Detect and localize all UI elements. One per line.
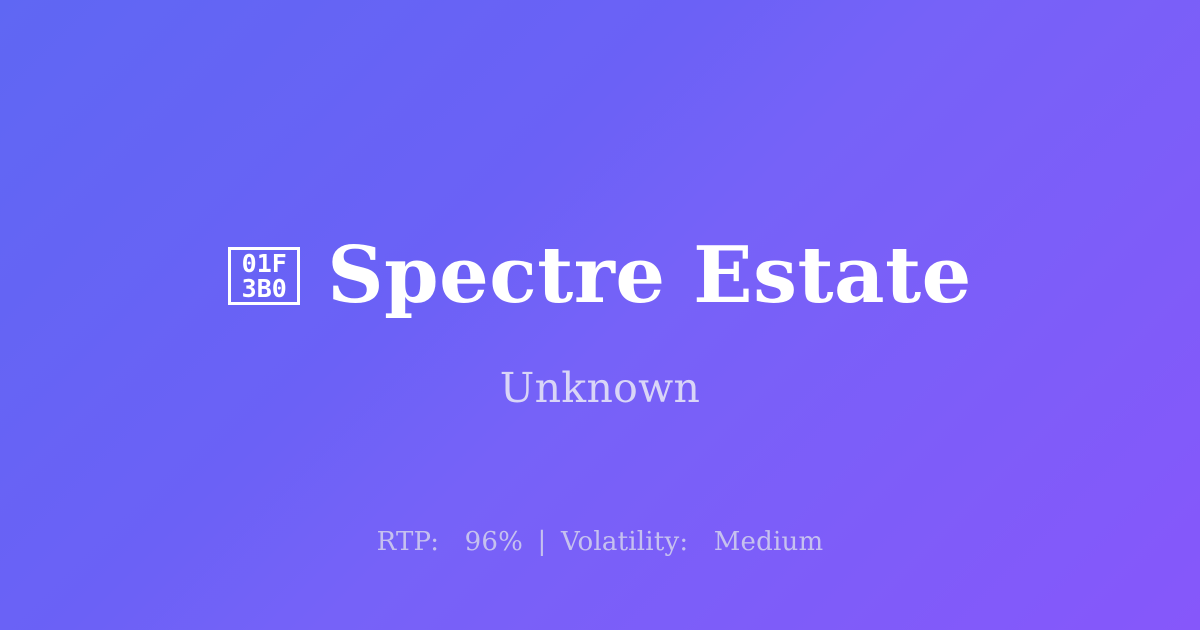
social-share-card: 01F 3B0 Spectre Estate Unknown RTP: 96% …: [0, 0, 1200, 630]
card-title-row: 01F 3B0 Spectre Estate: [0, 228, 1200, 324]
slot-machine-icon-codepoint-top: 01F: [242, 251, 287, 276]
page-title: Spectre Estate: [327, 228, 971, 324]
meta-separator: |: [532, 527, 553, 557]
rtp-value: 96%: [465, 527, 523, 557]
card-subtitle: Unknown: [0, 362, 1200, 414]
volatility-label: Volatility:: [561, 527, 688, 557]
volatility-value: Medium: [714, 527, 824, 557]
rtp-label: RTP:: [377, 527, 440, 557]
card-meta-line: RTP: 96% | Volatility: Medium: [0, 524, 1200, 560]
slot-machine-icon: 01F 3B0: [228, 247, 300, 305]
slot-machine-icon-codepoint-bottom: 3B0: [242, 276, 287, 301]
